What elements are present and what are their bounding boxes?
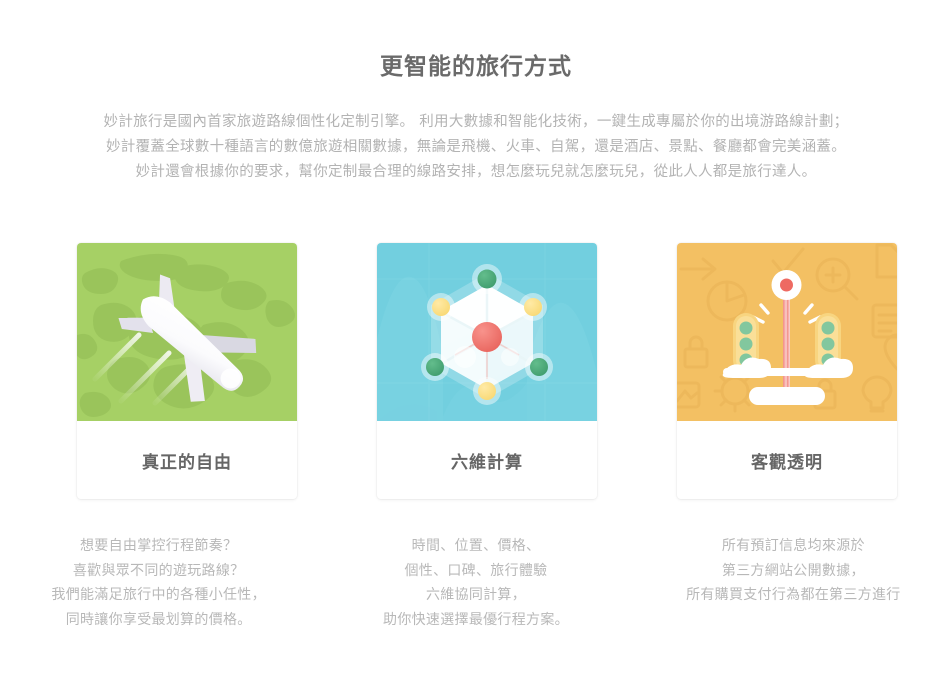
balance-scale-icon: [677, 243, 897, 421]
desc-line: 個性、口碑、旅行體驗: [317, 559, 634, 584]
card-art-teal: [377, 243, 597, 421]
feature-card-transparency[interactable]: 客觀透明: [677, 243, 897, 499]
desc-line: 我們能滿足旅行中的各種小任性，: [0, 583, 317, 608]
airplane-icon: [77, 243, 297, 421]
node-upper-right: [524, 298, 542, 316]
intro-line-2: 妙計覆蓋全球數十種語言的數億旅遊相關數據，無論是飛機、火車、自駕，還是酒店、景點…: [0, 135, 952, 160]
desc-line: 時間、位置、價格、: [317, 534, 634, 559]
node-lower-right: [530, 358, 548, 376]
feature-description-transparency: 所有預訂信息均來源於 第三方網站公開數據， 所有購買支付行為都在第三方進行: [635, 534, 952, 632]
card-title-transparency: 客觀透明: [677, 421, 897, 499]
feature-description-list: 想要自由掌控行程節奏？ 喜歡與眾不同的遊玩路線？ 我們能滿足旅行中的各種小任性，…: [0, 534, 952, 632]
desc-line: 第三方網站公開數據，: [635, 559, 952, 584]
desc-line: 同時讓你享受最划算的價格。: [0, 608, 317, 633]
feature-description-six-dimension: 時間、位置、價格、 個性、口碑、旅行體驗 六維協同計算， 助你快速選擇最優行程方…: [317, 534, 634, 632]
desc-line: 助你快速選擇最優行程方案。: [317, 608, 634, 633]
node-top: [478, 270, 497, 289]
feature-page: 更智能的旅行方式 妙計旅行是國內首家旅遊路線個性化定制引擎。 利用大數據和智能化…: [0, 0, 952, 683]
desc-line: 所有預訂信息均來源於: [635, 534, 952, 559]
card-art-orange: [677, 243, 897, 421]
desc-line: 六維協同計算，: [317, 583, 634, 608]
node-center: [472, 322, 502, 352]
feature-card-six-dimension[interactable]: 六維計算: [377, 243, 597, 499]
desc-line: 想要自由掌控行程節奏？: [0, 534, 317, 559]
feature-card-freedom[interactable]: 真正的自由: [77, 243, 297, 499]
card-art-green: [77, 243, 297, 421]
desc-line: 所有購買支付行為都在第三方進行: [635, 583, 952, 608]
feature-description-freedom: 想要自由掌控行程節奏？ 喜歡與眾不同的遊玩路線？ 我們能滿足旅行中的各種小任性，…: [0, 534, 317, 632]
card-title-freedom: 真正的自由: [77, 421, 297, 499]
page-title: 更智能的旅行方式: [0, 50, 952, 84]
node-upper-left: [432, 298, 450, 316]
intro-paragraph: 妙計旅行是國內首家旅遊路線個性化定制引擎。 利用大數據和智能化技術，一鍵生成專屬…: [0, 110, 952, 185]
node-bottom: [478, 382, 496, 400]
intro-line-1: 妙計旅行是國內首家旅遊路線個性化定制引擎。 利用大數據和智能化技術，一鍵生成專屬…: [0, 110, 952, 135]
intro-line-3: 妙計還會根據你的要求，幫你定制最合理的線路安排，想怎麼玩兒就怎麼玩兒，從此人人都…: [0, 160, 952, 185]
desc-line: 喜歡與眾不同的遊玩路線？: [0, 559, 317, 584]
feature-card-list: 真正的自由: [77, 243, 897, 499]
card-title-six-dimension: 六維計算: [377, 421, 597, 499]
hexagon-network-icon: [377, 243, 597, 421]
node-lower-left: [426, 358, 444, 376]
